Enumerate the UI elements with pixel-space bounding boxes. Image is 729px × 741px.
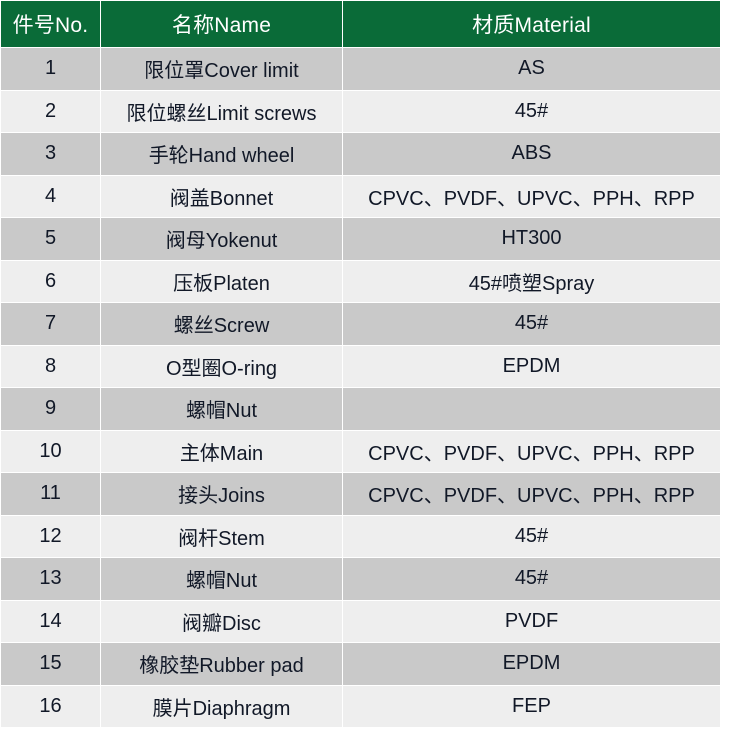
cell-part-number: 1 bbox=[1, 48, 101, 91]
table-row: 2限位螺丝Limit screws45# bbox=[1, 90, 721, 133]
cell-part-name: 螺丝Screw bbox=[101, 303, 343, 346]
cell-part-number: 7 bbox=[1, 303, 101, 346]
table-row: 12阀杆Stem45# bbox=[1, 515, 721, 558]
header-row: 件号No. 名称Name 材质Material bbox=[1, 1, 721, 48]
table-row: 3手轮Hand wheelABS bbox=[1, 133, 721, 176]
cell-part-number: 14 bbox=[1, 600, 101, 643]
cell-part-number: 5 bbox=[1, 218, 101, 261]
cell-part-material: PVDF bbox=[343, 600, 721, 643]
cell-part-name: 压板Platen bbox=[101, 260, 343, 303]
cell-part-number: 6 bbox=[1, 260, 101, 303]
cell-part-number: 2 bbox=[1, 90, 101, 133]
cell-part-number: 12 bbox=[1, 515, 101, 558]
cell-part-name: 橡胶垫Rubber pad bbox=[101, 643, 343, 686]
cell-part-material: HT300 bbox=[343, 218, 721, 261]
table-header: 件号No. 名称Name 材质Material bbox=[1, 1, 721, 48]
cell-part-material: EPDM bbox=[343, 345, 721, 388]
cell-part-name: 手轮Hand wheel bbox=[101, 133, 343, 176]
column-header-name: 名称Name bbox=[101, 1, 343, 48]
cell-part-number: 4 bbox=[1, 175, 101, 218]
cell-part-material: FEP bbox=[343, 685, 721, 728]
cell-part-number: 10 bbox=[1, 430, 101, 473]
cell-part-name: 限位罩Cover limit bbox=[101, 48, 343, 91]
cell-part-material: EPDM bbox=[343, 643, 721, 686]
column-header-no: 件号No. bbox=[1, 1, 101, 48]
table-row: 11接头JoinsCPVC、PVDF、UPVC、PPH、RPP bbox=[1, 473, 721, 516]
cell-part-number: 9 bbox=[1, 388, 101, 431]
cell-part-material: 45#喷塑Spray bbox=[343, 260, 721, 303]
cell-part-name: 螺帽Nut bbox=[101, 558, 343, 601]
table-row: 5阀母YokenutHT300 bbox=[1, 218, 721, 261]
table-row: 13螺帽Nut45# bbox=[1, 558, 721, 601]
table-row: 1限位罩Cover limitAS bbox=[1, 48, 721, 91]
cell-part-material bbox=[343, 388, 721, 431]
table-row: 8O型圈O-ringEPDM bbox=[1, 345, 721, 388]
cell-part-material: 45# bbox=[343, 515, 721, 558]
cell-part-number: 16 bbox=[1, 685, 101, 728]
cell-part-name: 阀杆Stem bbox=[101, 515, 343, 558]
cell-part-name: 阀盖Bonnet bbox=[101, 175, 343, 218]
cell-part-material: 45# bbox=[343, 303, 721, 346]
cell-part-material: AS bbox=[343, 48, 721, 91]
cell-part-name: 阀母Yokenut bbox=[101, 218, 343, 261]
cell-part-material: CPVC、PVDF、UPVC、PPH、RPP bbox=[343, 430, 721, 473]
cell-part-number: 3 bbox=[1, 133, 101, 176]
cell-part-number: 11 bbox=[1, 473, 101, 516]
table-row: 15橡胶垫Rubber padEPDM bbox=[1, 643, 721, 686]
table-body: 1限位罩Cover limitAS2限位螺丝Limit screws45#3手轮… bbox=[1, 48, 721, 728]
cell-part-material: ABS bbox=[343, 133, 721, 176]
cell-part-material: 45# bbox=[343, 90, 721, 133]
cell-part-name: 限位螺丝Limit screws bbox=[101, 90, 343, 133]
cell-part-material: CPVC、PVDF、UPVC、PPH、RPP bbox=[343, 175, 721, 218]
table-row: 10主体MainCPVC、PVDF、UPVC、PPH、RPP bbox=[1, 430, 721, 473]
cell-part-name: 接头Joins bbox=[101, 473, 343, 516]
column-header-material: 材质Material bbox=[343, 1, 721, 48]
table-row: 7螺丝Screw45# bbox=[1, 303, 721, 346]
cell-part-material: CPVC、PVDF、UPVC、PPH、RPP bbox=[343, 473, 721, 516]
cell-part-number: 13 bbox=[1, 558, 101, 601]
cell-part-number: 15 bbox=[1, 643, 101, 686]
cell-part-name: 阀瓣Disc bbox=[101, 600, 343, 643]
cell-part-number: 8 bbox=[1, 345, 101, 388]
table-row: 4阀盖BonnetCPVC、PVDF、UPVC、PPH、RPP bbox=[1, 175, 721, 218]
table-row: 14阀瓣DiscPVDF bbox=[1, 600, 721, 643]
cell-part-name: 主体Main bbox=[101, 430, 343, 473]
cell-part-material: 45# bbox=[343, 558, 721, 601]
table-row: 16膜片DiaphragmFEP bbox=[1, 685, 721, 728]
cell-part-name: 螺帽Nut bbox=[101, 388, 343, 431]
cell-part-name: 膜片Diaphragm bbox=[101, 685, 343, 728]
table-row: 9螺帽Nut bbox=[1, 388, 721, 431]
parts-material-table: 件号No. 名称Name 材质Material 1限位罩Cover limitA… bbox=[0, 0, 721, 728]
table-row: 6压板Platen45#喷塑Spray bbox=[1, 260, 721, 303]
cell-part-name: O型圈O-ring bbox=[101, 345, 343, 388]
